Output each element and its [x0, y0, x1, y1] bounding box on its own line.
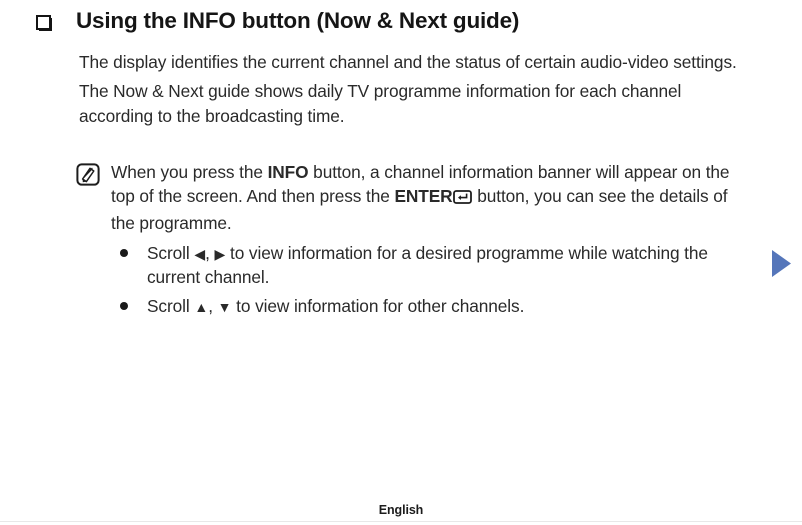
page-footer: English [0, 489, 802, 525]
left-arrow-icon: ◀ [194, 246, 205, 262]
manual-page: Using the INFO button (Now & Next guide)… [0, 0, 802, 525]
down-arrow-icon: ▼ [218, 299, 232, 315]
hollow-square-bullet-icon [36, 15, 53, 32]
list-item: Scroll ▲, ▼ to view information for othe… [120, 294, 754, 318]
page-title-text: Using the INFO button (Now & Next guide) [76, 6, 519, 36]
info-button-label: INFO [268, 162, 309, 182]
bullet-1-separator: , [205, 243, 214, 263]
note-text-part1: When you press the [111, 162, 268, 182]
scroll-instruction-list: Scroll ◀, ▶ to view information for a de… [120, 241, 754, 318]
up-arrow-icon: ▲ [194, 299, 208, 315]
round-bullet-icon [120, 302, 128, 310]
footer-language-label: English [0, 503, 802, 517]
intro-paragraphs: The display identifies the current chann… [79, 50, 750, 130]
bullet-2-prefix: Scroll [147, 296, 194, 316]
bullet-1-suffix: to view information for a desired progra… [147, 243, 708, 287]
enter-button-label: ENTER [394, 186, 452, 206]
list-item-label: Scroll ◀, ▶ to view information for a de… [147, 241, 754, 290]
bullet-2-suffix: to view information for other channels. [231, 296, 524, 316]
paragraph-2: The Now & Next guide shows daily TV prog… [79, 79, 750, 130]
note-text: When you press the INFO button, a channe… [111, 160, 754, 235]
page-title: Using the INFO button (Now & Next guide) [36, 6, 762, 36]
footer-divider [0, 521, 802, 522]
enter-return-key-icon [453, 186, 472, 210]
paragraph-1: The display identifies the current chann… [79, 50, 750, 76]
bullet-1-prefix: Scroll [147, 243, 194, 263]
bullet-2-separator: , [208, 296, 217, 316]
next-page-triangle-icon[interactable] [769, 249, 793, 278]
round-bullet-icon [120, 249, 128, 257]
right-arrow-icon: ▶ [215, 246, 226, 262]
note-block: When you press the INFO button, a channe… [76, 160, 754, 235]
note-pencil-icon [76, 163, 100, 186]
list-item-label: Scroll ▲, ▼ to view information for othe… [147, 294, 754, 318]
list-item: Scroll ◀, ▶ to view information for a de… [120, 241, 754, 290]
